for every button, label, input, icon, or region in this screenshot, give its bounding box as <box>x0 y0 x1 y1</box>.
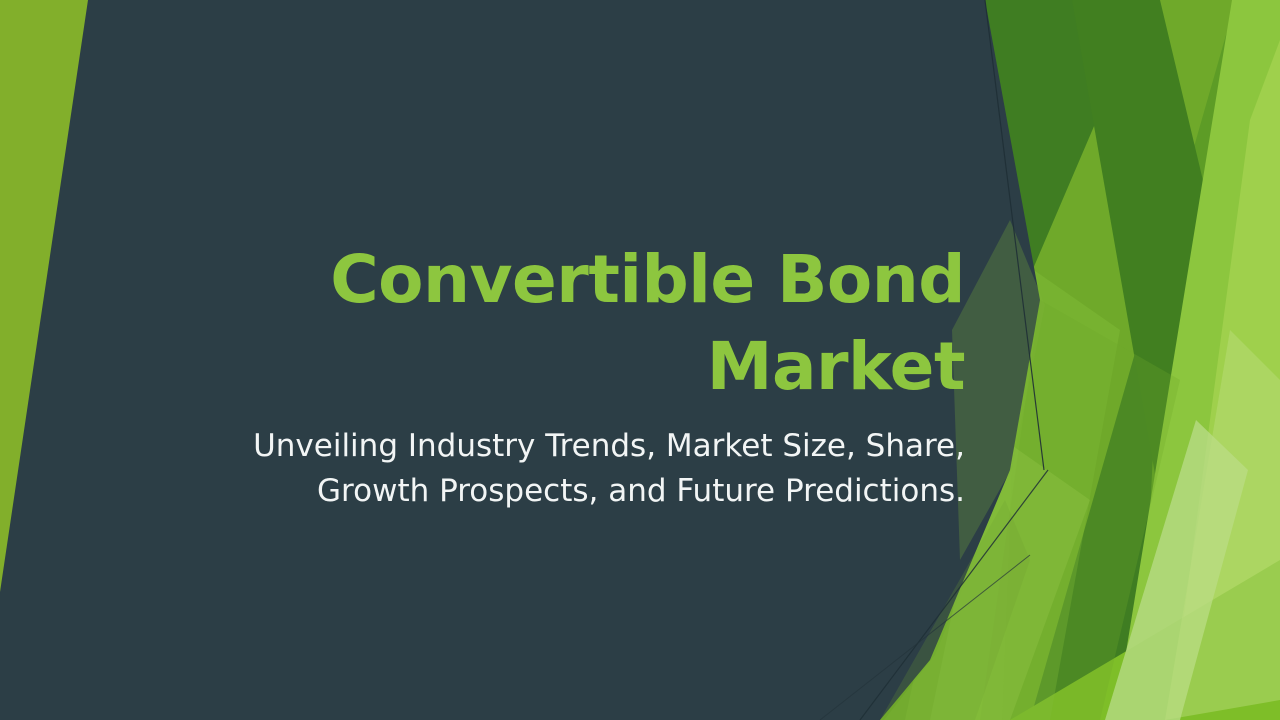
slide-title: Convertible Bond Market <box>150 236 965 410</box>
slide-subtitle: Unveiling Industry Trends, Market Size, … <box>150 424 965 514</box>
presentation-slide: Convertible Bond Market Unveiling Indust… <box>0 0 1280 720</box>
slide-text-block: Convertible Bond Market Unveiling Indust… <box>150 236 965 514</box>
